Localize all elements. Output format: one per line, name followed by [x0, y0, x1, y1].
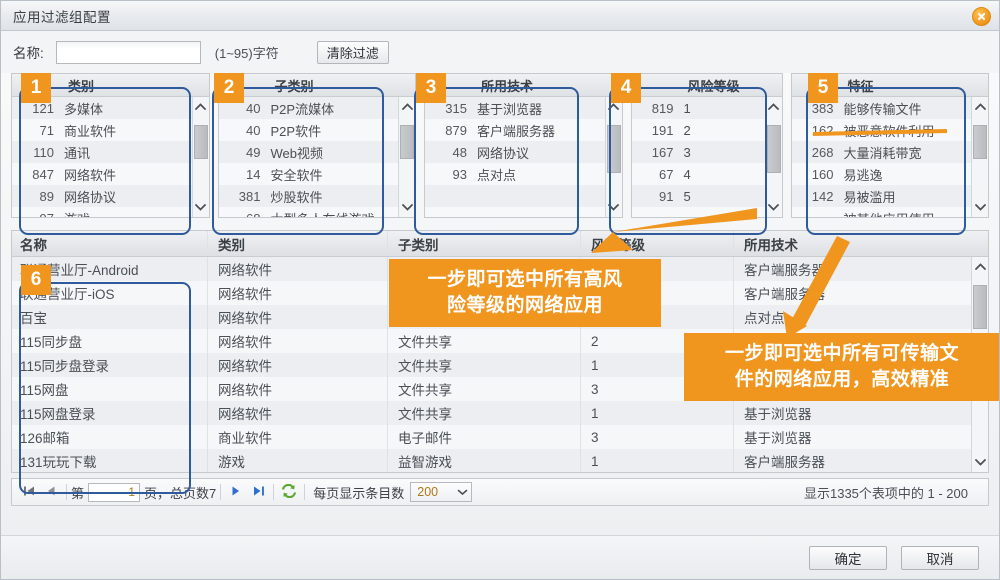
panel-header: 所用技术 [425, 74, 622, 97]
per-page-select[interactable]: 200 [410, 482, 472, 502]
filter-panels: 类别 121多媒体 71商业软件 110通讯 847网络软件 89网络协议 97… [1, 73, 999, 218]
item-label: 3 [684, 145, 765, 160]
list-item[interactable]: 89网络协议 [12, 185, 192, 207]
panel-header: 子类别 [219, 74, 416, 97]
list-item[interactable]: 142易被滥用 [792, 185, 972, 207]
cell-subcategory: 文件共享 [388, 353, 581, 377]
scroll-down-icon[interactable] [975, 197, 986, 217]
list-item[interactable]: 1912 [632, 119, 765, 141]
item-count: 381 [219, 189, 271, 204]
scroll-up-icon[interactable] [975, 97, 986, 117]
title-bar: 应用过滤组配置 [1, 1, 999, 31]
item-count: 268 [792, 145, 844, 160]
list-item[interactable]: 40P2P流媒体 [219, 97, 399, 119]
cell-subcategory: 益智游戏 [388, 449, 581, 472]
panel-rows: 315基于浏览器 879客户端服务器 48网络协议 93点对点 [425, 97, 605, 217]
item-label: P2P流媒体 [271, 99, 399, 118]
prev-page-icon[interactable] [40, 485, 62, 500]
list-item[interactable]: 49Web视频 [219, 141, 399, 163]
cell-name: 126邮箱 [12, 425, 208, 449]
item-label: 1 [684, 101, 765, 116]
item-label: 通讯 [64, 143, 192, 162]
list-item [632, 207, 765, 217]
item-count: 879 [425, 123, 477, 138]
cell-risk: 3 [581, 425, 734, 449]
item-label: P2P软件 [271, 121, 399, 140]
item-count: 847 [12, 167, 64, 182]
item-label: 多媒体 [64, 99, 192, 118]
scroll-up-icon[interactable] [195, 97, 206, 117]
cell-name: 131玩玩下载 [12, 449, 208, 472]
scroll-down-icon[interactable] [195, 197, 206, 217]
app-filter-group-dialog: 应用过滤组配置 名称: (1~95)字符 清除过滤 类别 121多媒体 71商业… [0, 0, 1000, 580]
item-label: 易逃逸 [844, 165, 972, 184]
callout-filetransfer-line1: 一步即可选中所有可传输文 [696, 341, 988, 367]
list-item[interactable]: 110通讯 [12, 141, 192, 163]
step-badge-4: 4 [611, 73, 641, 103]
item-label: 基于浏览器 [477, 99, 605, 118]
scroll-thumb[interactable] [194, 125, 208, 159]
step-badge-5: 5 [808, 73, 838, 103]
cell-category: 网络软件 [208, 257, 388, 281]
cell-name: 百宝 [12, 305, 208, 329]
cell-category: 网络软件 [208, 329, 388, 353]
scroll-up-icon[interactable] [402, 97, 413, 117]
cell-name: 115网盘 [12, 377, 208, 401]
list-item [425, 207, 605, 217]
panel-scrollbar[interactable] [398, 97, 415, 217]
scroll-up-icon[interactable] [975, 257, 986, 277]
item-label: 网络协议 [64, 187, 192, 206]
per-page-value: 200 [417, 485, 438, 499]
cell-risk: 1 [581, 449, 734, 472]
cell-name: 115网盘登录 [12, 401, 208, 425]
list-item[interactable]: 71商业软件 [12, 119, 192, 141]
list-item[interactable]: 381炒股软件 [219, 185, 399, 207]
cell-name: 115同步盘登录 [12, 353, 208, 377]
panel-scrollbar[interactable] [971, 97, 988, 217]
list-item[interactable]: 48网络协议 [425, 141, 605, 163]
cell-technology: 基于浏览器 [734, 425, 971, 449]
callout-filetransfer: 一步即可选中所有可传输文 件的网络应用，高效精准 [684, 333, 1000, 401]
item-count: 191 [632, 123, 684, 138]
per-page-label: 每页显示条目数 [313, 483, 404, 502]
list-item[interactable]: 268大量消耗带宽 [792, 141, 972, 163]
panel-title: 子类别 [273, 76, 314, 95]
panel-rows: 121多媒体 71商业软件 110通讯 847网络软件 89网络协议 97游戏 [12, 97, 192, 217]
filter-panel-subcategory: 子类别 40P2P流媒体 40P2P软件 49Web视频 14安全软件 381炒… [218, 73, 417, 218]
item-label: 炒股软件 [271, 187, 399, 206]
panel-scrollbar[interactable] [765, 97, 782, 217]
list-item[interactable]: 1673 [632, 141, 765, 163]
cancel-button[interactable]: 取消 [901, 546, 979, 570]
scroll-down-icon[interactable] [402, 197, 413, 217]
callout-risk-line2: 险等级的网络应用 [401, 293, 649, 319]
item-label: 易被滥用 [844, 187, 972, 206]
item-label: 大量消耗带宽 [844, 143, 972, 162]
panel-list: 383能够传输文件 162被恶意软件利用 268大量消耗带宽 160易逃逸 14… [792, 97, 989, 217]
item-label: 网络软件 [64, 165, 192, 184]
cell-category: 网络软件 [208, 281, 388, 305]
item-count: 142 [792, 189, 844, 204]
cell-subcategory: 电子邮件 [388, 425, 581, 449]
list-item[interactable]: 93点对点 [425, 163, 605, 185]
item-label: 游戏 [64, 209, 192, 218]
scroll-thumb[interactable] [400, 125, 414, 159]
list-item[interactable]: 315基于浏览器 [425, 97, 605, 119]
item-label: 被恶意软件利用 [844, 121, 972, 140]
refresh-icon[interactable] [278, 484, 300, 501]
item-label: 商业软件 [64, 121, 192, 140]
list-item[interactable]: 847网络软件 [12, 163, 192, 185]
item-label: 大型多人在线游戏 [271, 209, 399, 218]
scroll-down-icon[interactable] [768, 197, 779, 217]
table-row[interactable]: 115网盘登录网络软件文件共享1基于浏览器 [12, 401, 971, 425]
record-range-status: 显示1335个表项中的 1 - 200 [804, 483, 982, 502]
last-page-icon[interactable] [247, 485, 269, 500]
panel-rows: 40P2P流媒体 40P2P软件 49Web视频 14安全软件 381炒股软件 … [219, 97, 399, 217]
scroll-up-icon[interactable] [768, 97, 779, 117]
list-item[interactable]: 674 [632, 163, 765, 185]
scroll-track[interactable] [606, 117, 622, 197]
item-count: 14 [219, 167, 271, 182]
item-count: 97 [12, 211, 64, 218]
panel-title: 特征 [846, 76, 874, 95]
step-badge-1: 1 [21, 73, 51, 103]
item-label: 5 [684, 189, 765, 204]
item-count: 162 [792, 123, 844, 138]
item-count: 48 [425, 145, 477, 160]
dialog-footer: 确定 取消 [1, 535, 999, 579]
panel-title: 类别 [66, 76, 94, 95]
cell-subcategory: 文件共享 [388, 377, 581, 401]
scroll-track[interactable] [766, 117, 782, 197]
list-item[interactable]: 879客户端服务器 [425, 119, 605, 141]
panel-rows: 8191 1912 1673 674 915 [632, 97, 765, 217]
column-header-name[interactable]: 名称 [12, 231, 208, 256]
item-label: 能够传输文件 [844, 99, 972, 118]
cell-category: 游戏 [208, 449, 388, 472]
callout-risk-line1: 一步即可选中所有高风 [401, 267, 649, 293]
panel-scrollbar[interactable] [605, 97, 622, 217]
cell-subcategory: 文件共享 [388, 401, 581, 425]
panel-title: 风险等级 [686, 76, 740, 95]
item-label: 点对点 [477, 165, 605, 184]
callout-filetransfer-line2: 件的网络应用，高效精准 [696, 367, 988, 393]
list-item[interactable]: 97游戏 [12, 207, 192, 217]
item-count: 40 [219, 123, 271, 138]
item-label: 安全软件 [271, 165, 399, 184]
item-count: 89 [12, 189, 64, 204]
item-label: 被其他应用使用 [844, 209, 972, 218]
item-count: 93 [425, 167, 477, 182]
cell-technology: 客户端服务器 [734, 449, 971, 472]
list-item[interactable]: 915 [632, 185, 765, 207]
item-label: Web视频 [271, 143, 399, 162]
item-count: 91 [632, 189, 684, 204]
name-hint: (1~95)字符 [215, 43, 279, 62]
step-badge-3: 3 [416, 73, 446, 103]
divider [66, 484, 67, 500]
cell-risk: 1 [581, 401, 734, 425]
panel-list: 121多媒体 71商业软件 110通讯 847网络软件 89网络协议 97游戏 [12, 97, 209, 217]
list-item[interactable]: 8191 [632, 97, 765, 119]
list-item[interactable]: 14安全软件 [219, 163, 399, 185]
scroll-thumb[interactable] [767, 125, 781, 173]
cell-technology: 点对点 [734, 305, 971, 329]
clear-filter-button[interactable]: 清除过滤 [317, 41, 389, 64]
scroll-track[interactable] [193, 117, 209, 197]
item-count: 49 [219, 145, 271, 160]
scroll-down-icon[interactable] [608, 197, 619, 217]
filter-form-row: 名称: (1~95)字符 清除过滤 [1, 31, 999, 73]
panel-rows: 383能够传输文件 162被恶意软件利用 268大量消耗带宽 160易逃逸 14… [792, 97, 972, 217]
table-row[interactable]: 126邮箱商业软件电子邮件3基于浏览器 [12, 425, 971, 449]
cell-category: 网络软件 [208, 401, 388, 425]
column-header-technology[interactable]: 所用技术 [734, 231, 988, 256]
scroll-thumb[interactable] [973, 285, 987, 329]
table-header-row: 名称 类别 子类别 风险等级 所用技术 [12, 231, 988, 257]
divider [220, 484, 221, 500]
list-item[interactable]: 162被恶意软件利用 [792, 119, 972, 141]
scroll-track[interactable] [972, 117, 988, 197]
close-icon[interactable] [972, 7, 991, 26]
scroll-thumb[interactable] [607, 125, 621, 173]
item-count: 67 [632, 167, 684, 182]
cell-category: 商业软件 [208, 425, 388, 449]
list-item [425, 185, 605, 207]
panel-list: 40P2P流媒体 40P2P软件 49Web视频 14安全软件 381炒股软件 … [219, 97, 416, 217]
scroll-track[interactable] [399, 117, 415, 197]
scroll-down-icon[interactable] [975, 452, 986, 472]
list-item[interactable]: 68大型多人在线游戏 [219, 207, 399, 217]
item-count: 167 [632, 145, 684, 160]
divider [273, 484, 274, 500]
scroll-thumb[interactable] [973, 125, 987, 159]
callout-risk: 一步即可选中所有高风 险等级的网络应用 [389, 259, 661, 327]
name-label: 名称: [13, 42, 44, 62]
page-suffix-label: 页，总页数7 [144, 483, 216, 502]
step-badge-2: 2 [214, 73, 244, 103]
first-page-icon[interactable] [18, 485, 40, 500]
item-count: 110 [12, 145, 64, 160]
cell-technology: 客户端服务器 [734, 281, 971, 305]
page-prefix-label: 第 [71, 483, 84, 502]
pagination-bar: 第 页，总页数7 每页显示条目数 200 显示1335个表项中的 1 - 200 [11, 478, 989, 506]
item-count: 71 [12, 123, 64, 138]
list-item[interactable]: 被其他应用使用 [792, 207, 972, 217]
ok-button[interactable]: 确定 [809, 546, 887, 570]
name-input[interactable] [56, 41, 201, 64]
item-label: 客户端服务器 [477, 121, 605, 140]
filter-panel-risk-level: 风险等级 8191 1912 1673 674 915 [631, 73, 783, 218]
divider [304, 484, 305, 500]
panel-scrollbar[interactable] [192, 97, 209, 217]
column-header-category[interactable]: 类别 [208, 231, 388, 256]
cell-category: 网络软件 [208, 305, 388, 329]
page-title: 应用过滤组配置 [13, 6, 111, 26]
cell-category: 网络软件 [208, 353, 388, 377]
step-badge-6: 6 [21, 265, 51, 295]
panel-header: 风险等级 [632, 74, 782, 97]
next-page-icon[interactable] [225, 485, 247, 500]
panel-list: 8191 1912 1673 674 915 [632, 97, 782, 217]
item-count: 160 [792, 167, 844, 182]
filter-panel-technology: 所用技术 315基于浏览器 879客户端服务器 48网络协议 93点对点 [424, 73, 623, 218]
panel-title: 所用技术 [479, 76, 533, 95]
panel-list: 315基于浏览器 879客户端服务器 48网络协议 93点对点 [425, 97, 622, 217]
item-count: 68 [219, 211, 271, 218]
list-item[interactable]: 160易逃逸 [792, 163, 972, 185]
table-row[interactable]: 131玩玩下载游戏益智游戏1客户端服务器 [12, 449, 971, 472]
cell-subcategory: 文件共享 [388, 329, 581, 353]
chevron-down-icon [457, 488, 468, 496]
page-number-input[interactable] [88, 483, 140, 502]
item-label: 4 [684, 167, 765, 182]
column-header-subcategory[interactable]: 子类别 [388, 231, 581, 256]
cell-name: 115同步盘 [12, 329, 208, 353]
column-header-risk[interactable]: 风险等级 [581, 231, 734, 256]
cell-category: 网络软件 [208, 377, 388, 401]
cell-technology: 基于浏览器 [734, 401, 971, 425]
list-item[interactable]: 40P2P软件 [219, 119, 399, 141]
item-label: 2 [684, 123, 765, 138]
item-label: 网络协议 [477, 143, 605, 162]
cell-technology: 客户端服务器 [734, 257, 971, 281]
